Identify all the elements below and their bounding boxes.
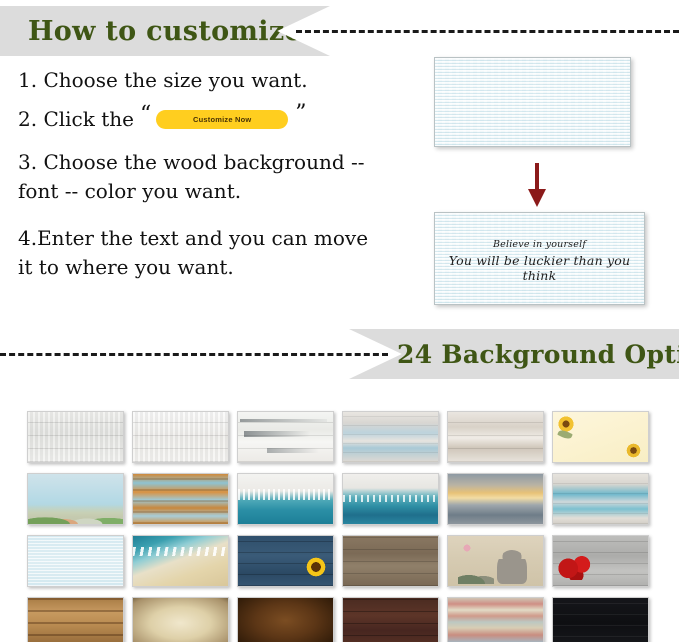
surf-detail [133, 547, 228, 556]
background-thumb-14[interactable] [132, 535, 229, 587]
background-thumb-17[interactable] [447, 535, 544, 587]
zen-stones-detail [458, 570, 494, 584]
background-thumb-20[interactable] [132, 597, 229, 642]
step-4: 4.Enter the text and you can move it to … [18, 224, 378, 282]
background-thumb-3[interactable] [237, 411, 334, 463]
background-thumb-24[interactable] [552, 597, 649, 642]
quote-open: “ [140, 104, 151, 126]
background-thumb-11[interactable] [447, 473, 544, 525]
sea-foam-detail [238, 489, 333, 500]
quote-close: ” [295, 103, 306, 125]
customize-now-button[interactable]: Customize Now [156, 110, 288, 129]
banner-title-top: How to customize [28, 18, 302, 45]
sea-foam-detail-2 [343, 495, 438, 502]
background-thumb-21[interactable] [237, 597, 334, 642]
preview-text-line-2: You will be luckier than you think [435, 253, 644, 283]
background-thumb-15[interactable] [237, 535, 334, 587]
thumb-3-distress-3 [240, 419, 327, 422]
background-thumb-18[interactable] [552, 535, 649, 587]
background-thumb-13[interactable] [27, 535, 124, 587]
background-thumb-22[interactable] [342, 597, 439, 642]
background-options-grid [27, 411, 652, 642]
banner-title-bottom: 24 Background Options [397, 342, 679, 367]
sunflower-icon-bottom-right [624, 441, 643, 460]
background-thumb-1[interactable] [27, 411, 124, 463]
preview-sign-text: Believe in yourself You will be luckier … [435, 239, 644, 283]
background-thumb-4[interactable] [342, 411, 439, 463]
background-thumb-16[interactable] [342, 535, 439, 587]
background-thumb-2[interactable] [132, 411, 229, 463]
background-thumb-7[interactable] [27, 473, 124, 525]
step-3: 3. Choose the wood background -- font --… [18, 148, 378, 206]
preview-sign-with-text: Believe in yourself You will be luckier … [434, 212, 645, 305]
dashed-connector-bottom [0, 353, 388, 356]
poppy-flowers-detail [557, 554, 597, 580]
background-thumb-9[interactable] [237, 473, 334, 525]
background-thumb-8[interactable] [132, 473, 229, 525]
background-thumb-19[interactable] [27, 597, 124, 642]
preview-text-line-1: Believe in yourself [435, 239, 644, 250]
step-2-prefix: 2. Click the [18, 109, 134, 129]
background-thumb-6[interactable] [552, 411, 649, 463]
banner-background-options: 24 Background Options [349, 329, 679, 379]
coral-reef-detail [28, 503, 123, 524]
step-1: 1. Choose the size you want. [18, 70, 408, 90]
thumb-3-distress-2 [267, 448, 319, 453]
preview-blank-sign [434, 57, 631, 147]
sunflower-icon-right [303, 554, 329, 580]
thumb-3-distress-1 [244, 431, 311, 437]
instruction-steps: 1. Choose the size you want. 2. Click th… [18, 70, 408, 300]
banner-how-to-customize: How to customize [0, 6, 330, 56]
infographic-page: How to customize 1. Choose the size you … [0, 0, 679, 642]
background-thumb-10[interactable] [342, 473, 439, 525]
blossom-icon [461, 542, 473, 554]
down-arrow-icon [528, 163, 546, 207]
background-thumb-23[interactable] [447, 597, 544, 642]
dashed-connector-top [296, 30, 679, 33]
step-2: 2. Click the “ Customize Now ” [18, 108, 408, 130]
buddha-figure [497, 550, 527, 584]
background-thumb-12[interactable] [552, 473, 649, 525]
background-thumb-5[interactable] [447, 411, 544, 463]
